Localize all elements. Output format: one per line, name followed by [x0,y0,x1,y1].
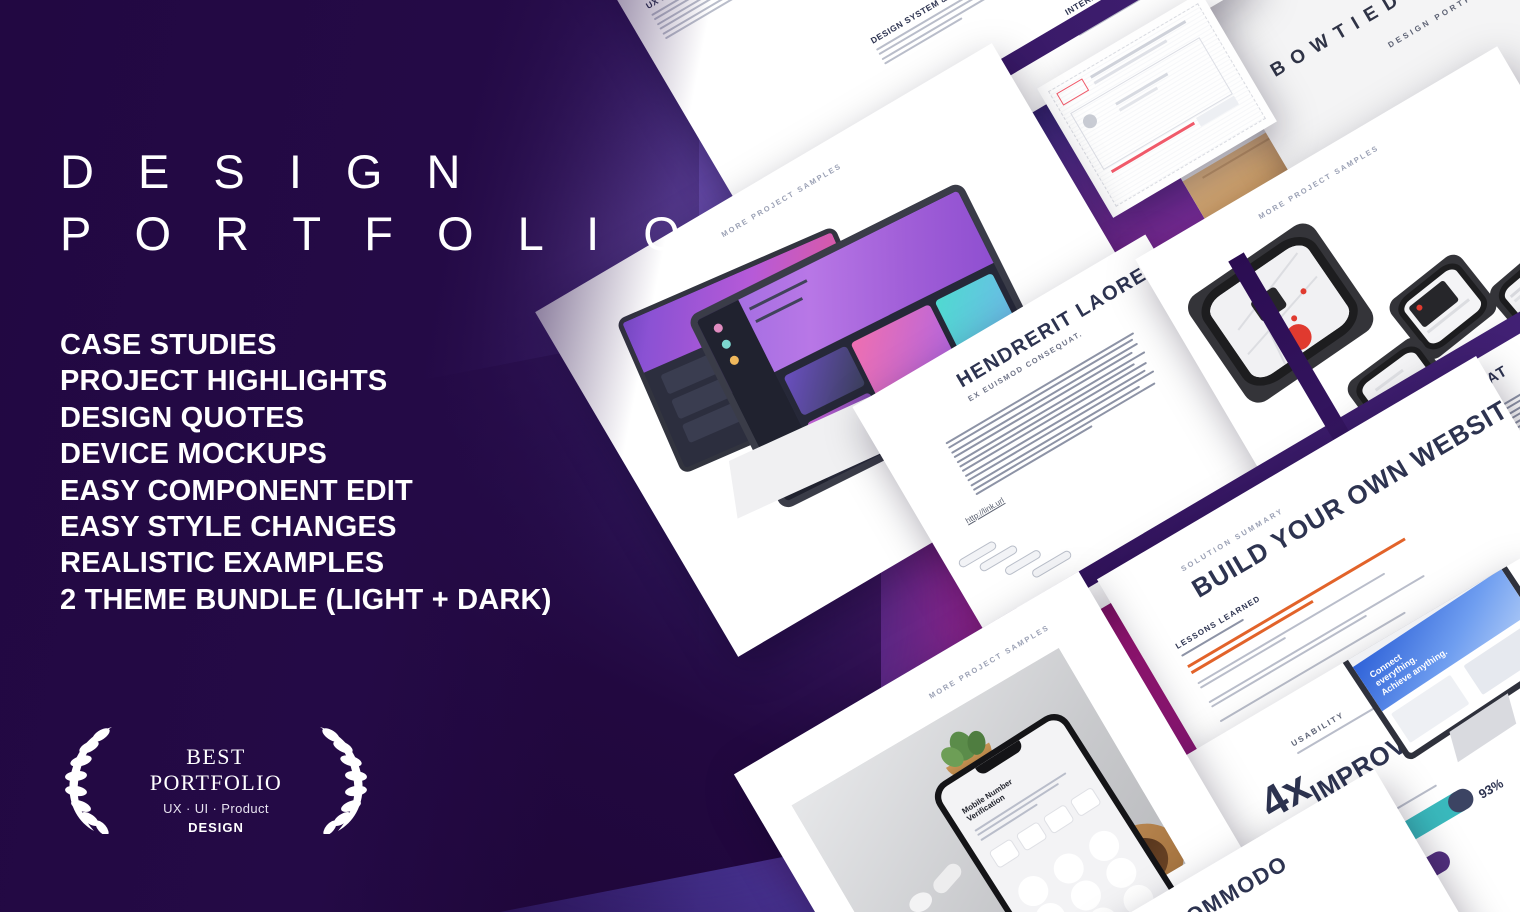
feature-item-6: REALISTIC EXAMPLES [60,545,552,581]
laurel-left-icon [60,722,120,834]
feature-item-4: EASY COMPONENT EDIT [60,473,552,509]
feature-item-0: CASE STUDIES [60,327,552,363]
page-title-line-2: P O R T F O L I O [60,203,695,265]
feature-item-5: EASY STYLE CHANGES [60,509,552,545]
poster-stage: BOWTIED DESIGNER DESIGN PORTFOLIO WEBSIT… [0,0,1520,912]
solution-lessons-heading: LESSONS LEARNED [1174,594,1262,651]
feature-item-1: PROJECT HIGHLIGHTS [60,363,552,399]
page-title: D E S I G N P O R T F O L I O [60,141,695,265]
feature-item-3: DEVICE MOCKUPS [60,436,552,472]
detail-link[interactable]: http://link.url [964,496,1006,526]
page-title-line-1: D E S I G N [60,141,695,203]
badge-title: BEST PORTFOLIO [122,744,310,796]
badge-category: DESIGN [122,820,310,835]
badge-subtitle: UX · UI · Product [122,801,310,816]
feature-item-2: DESIGN QUOTES [60,400,552,436]
feature-item-7: 2 THEME BUNDLE (LIGHT + DARK) [60,582,552,618]
feature-list: CASE STUDIES PROJECT HIGHLIGHTS DESIGN Q… [60,327,552,618]
process-body-1 [651,0,795,42]
award-badge: BEST PORTFOLIO UX · UI · Product DESIGN [60,722,372,834]
sentiment-percent: 93% [1476,776,1506,802]
watch-main [1192,227,1368,396]
laurel-right-icon [312,722,372,834]
